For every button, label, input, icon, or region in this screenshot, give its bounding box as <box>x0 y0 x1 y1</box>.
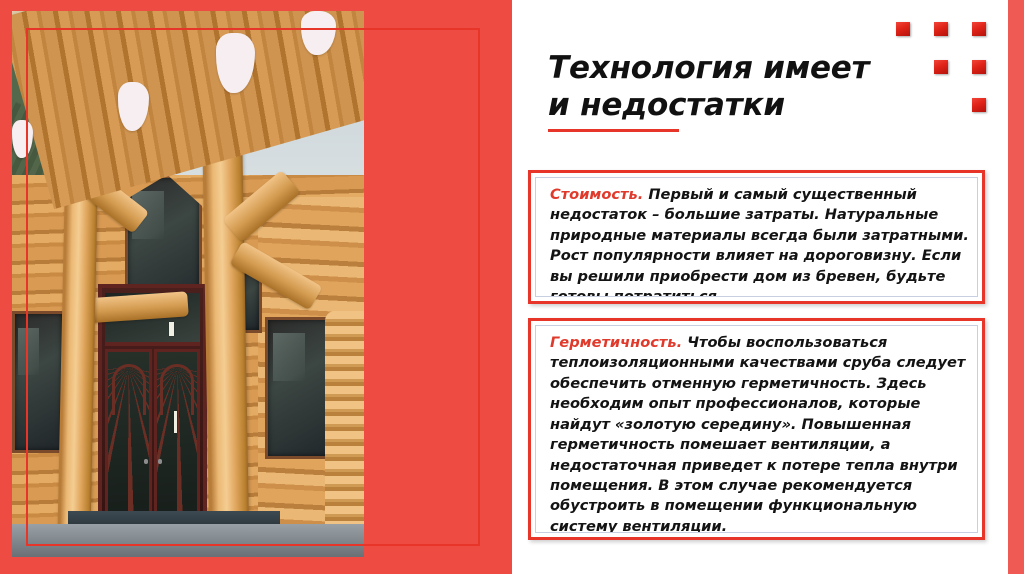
red-square-icon <box>972 98 986 112</box>
red-square-icon <box>972 22 986 36</box>
title-line-2: и недостатки <box>548 87 968 124</box>
content-box-cost: Стоимость. Первый и самый существенный н… <box>528 170 985 304</box>
panel-left-accent-band <box>0 0 12 574</box>
right-accent-bar <box>1008 0 1024 574</box>
content-paragraph: Стоимость. Первый и самый существенный н… <box>550 185 970 297</box>
panel-bottom-accent-band <box>0 557 364 574</box>
title-underline <box>548 129 679 132</box>
content-paragraph: Герметичность. Чтобы воспользоваться теп… <box>550 333 970 533</box>
photo-outline-rectangle <box>26 28 480 546</box>
page-title: Технология имеет и недостатки <box>548 50 968 123</box>
content-box-inner-frame: Стоимость. Первый и самый существенный н… <box>535 177 978 297</box>
title-line-1: Технология имеет <box>548 50 968 87</box>
content-box-inner-frame: Герметичность. Чтобы воспользоваться теп… <box>535 325 978 533</box>
slide-canvas: Технология имеет и недостатки Стоимость.… <box>0 0 1024 574</box>
red-square-icon <box>896 22 910 36</box>
red-square-icon <box>934 22 948 36</box>
content-box-airtightness: Герметичность. Чтобы воспользоваться теп… <box>528 318 985 540</box>
content-lead-label: Герметичность. <box>550 334 682 351</box>
content-body-text: Чтобы воспользоваться теплоизоляционными… <box>550 334 965 533</box>
content-lead-label: Стоимость. <box>550 186 643 203</box>
panel-top-accent-band <box>0 0 364 11</box>
red-square-icon <box>972 60 986 74</box>
left-graphic-panel <box>0 0 512 574</box>
